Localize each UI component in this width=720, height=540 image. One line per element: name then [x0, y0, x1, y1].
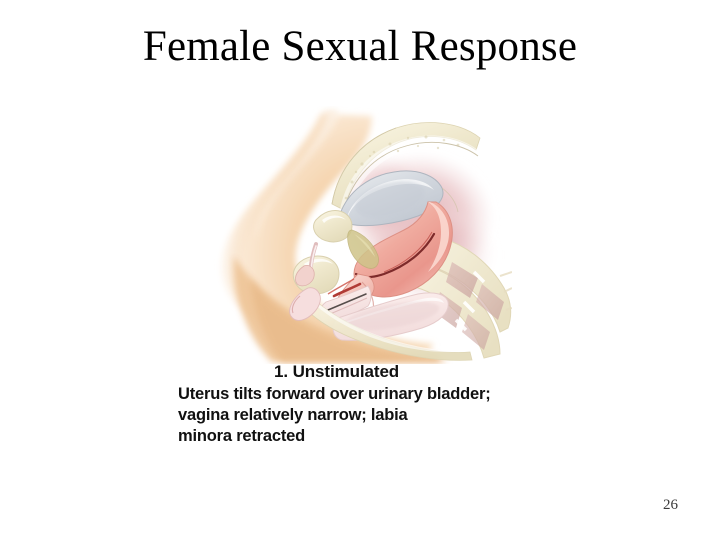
- anatomy-diagram-svg: [212, 106, 512, 364]
- figure-caption: 1. Unstimulated Uterus tilts forward ove…: [178, 362, 598, 447]
- page-number: 26: [663, 497, 678, 514]
- page-title: Female Sexual Response: [0, 22, 720, 71]
- female-pelvis-sagittal-illustration: [212, 106, 512, 364]
- caption-heading: 1. Unstimulated: [178, 362, 598, 382]
- caption-body: Uterus tilts forward over urinary bladde…: [178, 384, 598, 447]
- slide-canvas: Female Sexual Response: [0, 0, 720, 540]
